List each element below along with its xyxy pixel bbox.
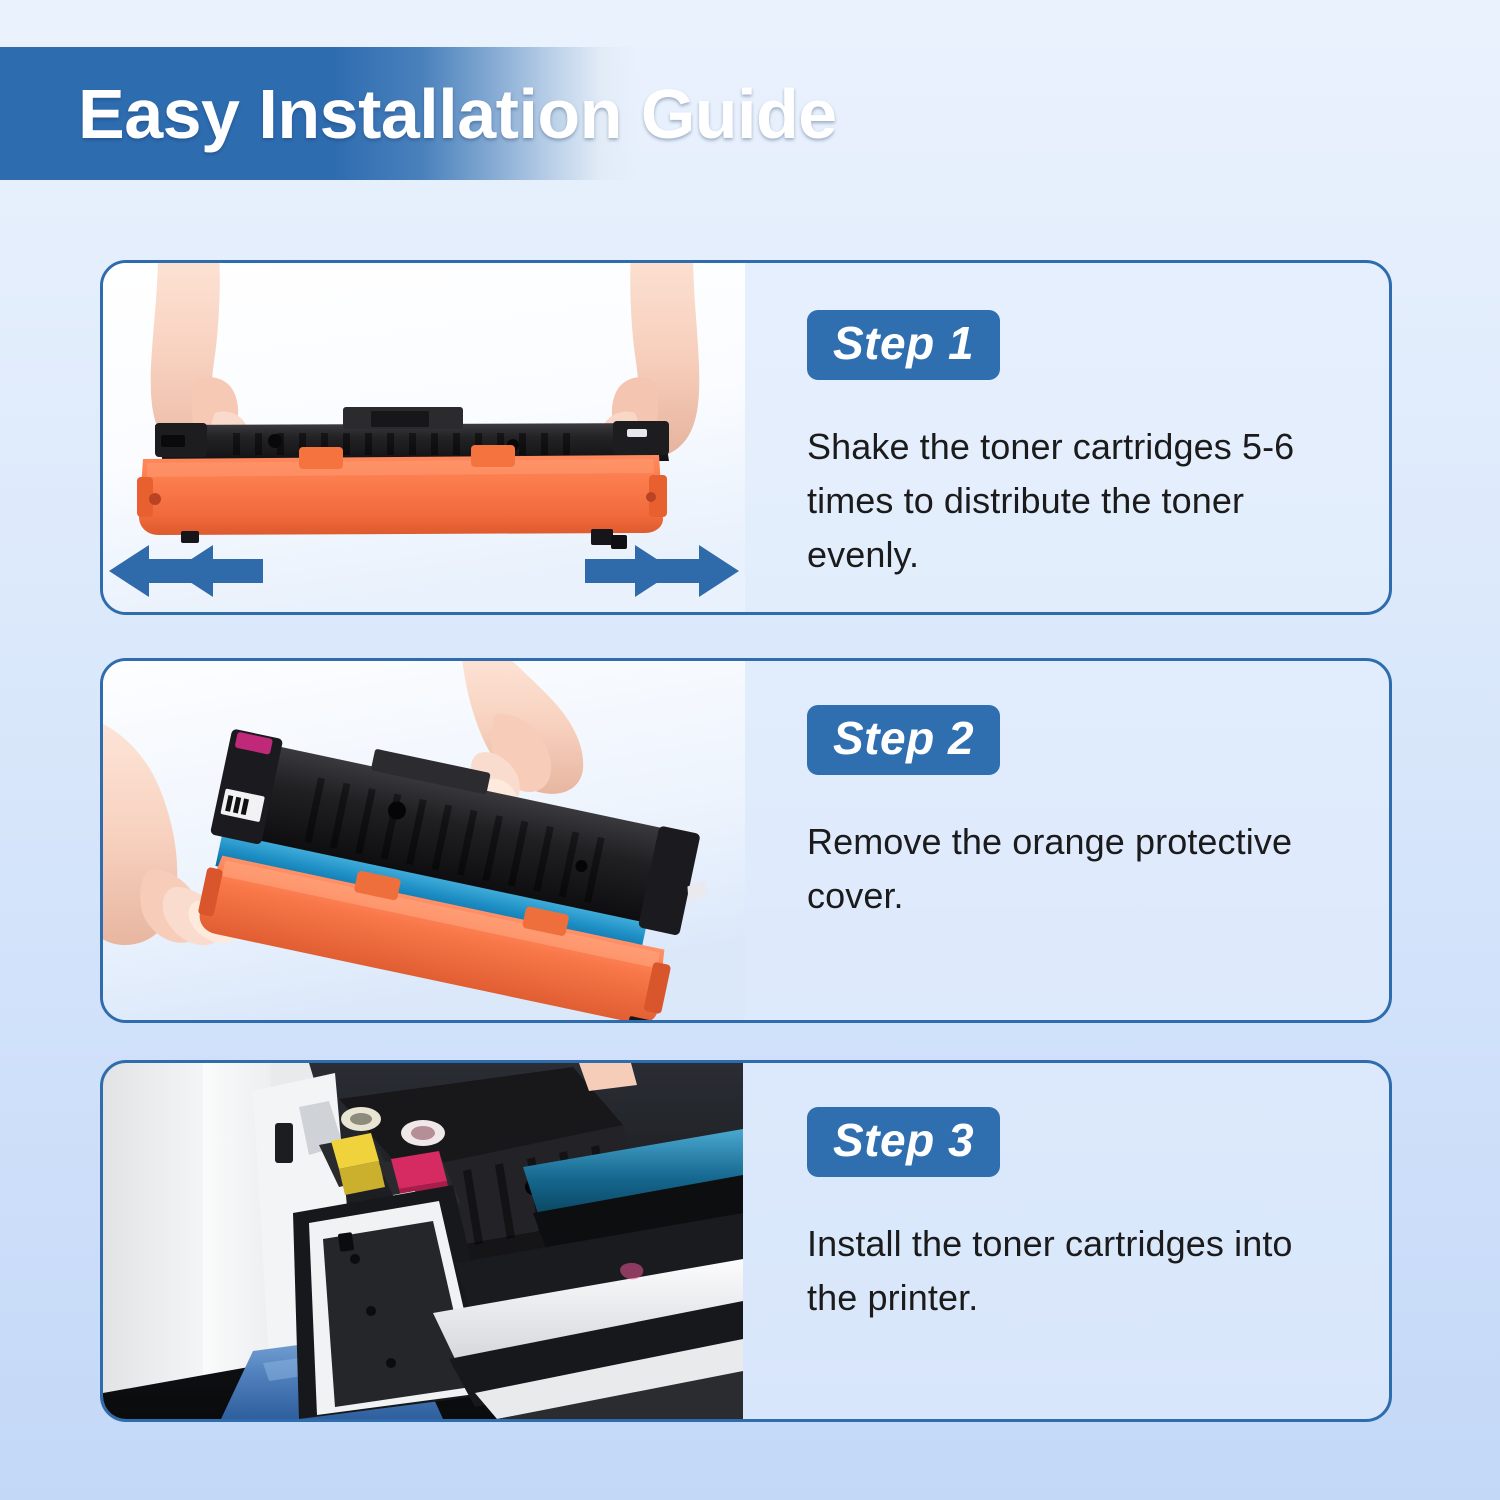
step-3-text-block: Step 3 Install the toner cartridges into… [803,1063,1389,1419]
step-2-description: Remove the orange protective cover. [807,815,1349,923]
step-3-description: Install the toner cartridges into the pr… [807,1217,1349,1325]
step-panel-2: Step 2 Remove the orange protective cove… [100,658,1392,1023]
step-3-illustration [103,1063,743,1419]
step-panel-1: Step 1 Shake the toner cartridges 5-6 ti… [100,260,1392,615]
step-panel-3: Step 3 Install the toner cartridges into… [100,1060,1392,1422]
step-2-photo [103,661,745,1020]
page-title: Easy Installation Guide [78,60,837,168]
step-1-text-block: Step 1 Shake the toner cartridges 5-6 ti… [803,263,1389,612]
step-3-photo [103,1063,743,1419]
step-2-text-block: Step 2 Remove the orange protective cove… [803,661,1389,1020]
step-2-badge: Step 2 [807,705,1000,775]
step-3-badge: Step 3 [807,1107,1000,1177]
step-1-description: Shake the toner cartridges 5-6 times to … [807,420,1349,582]
toner-cartridge [137,407,669,549]
step-1-photo [103,263,745,612]
step-1-illustration [103,263,745,612]
step-1-badge: Step 1 [807,310,1000,380]
step-2-illustration [103,661,745,1020]
